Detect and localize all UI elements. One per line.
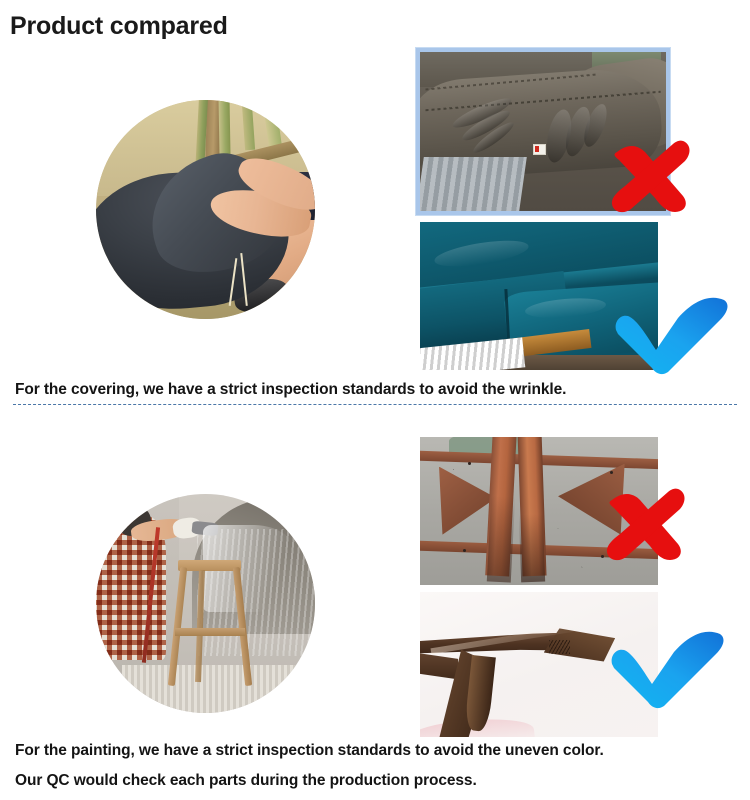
painting-caption-line-2: Our QC would check each parts during the… xyxy=(15,772,477,790)
stool-foot-rail xyxy=(175,628,244,636)
worker-fitting-fabric-cover-photo xyxy=(96,100,315,319)
brand-label-tag xyxy=(533,144,546,155)
blue-check-mark xyxy=(608,630,728,710)
walnut-rail-left xyxy=(420,650,458,682)
blue-check-mark xyxy=(612,296,732,376)
stool-leg-left xyxy=(167,567,187,686)
wood-grain-detail xyxy=(549,640,570,655)
uneven-color-patch xyxy=(519,514,545,583)
page-title: Product compared xyxy=(10,12,228,41)
covering-caption: For the covering, we have a strict inspe… xyxy=(15,381,566,399)
wooden-stool xyxy=(170,560,249,687)
red-cross-mark xyxy=(600,478,692,564)
stool-leg-back xyxy=(195,570,205,682)
radiator-background xyxy=(420,157,527,211)
red-cross-mark xyxy=(605,130,697,216)
worker-spray-painting-stool-photo xyxy=(96,494,315,713)
screw-hole xyxy=(468,462,471,465)
uneven-color-patch xyxy=(487,496,515,583)
section-divider xyxy=(13,404,737,405)
painting-caption-line-1: For the painting, we have a strict inspe… xyxy=(15,742,604,760)
stool-top-frame xyxy=(178,560,241,571)
product-comparison-page: Product compared xyxy=(0,0,750,800)
